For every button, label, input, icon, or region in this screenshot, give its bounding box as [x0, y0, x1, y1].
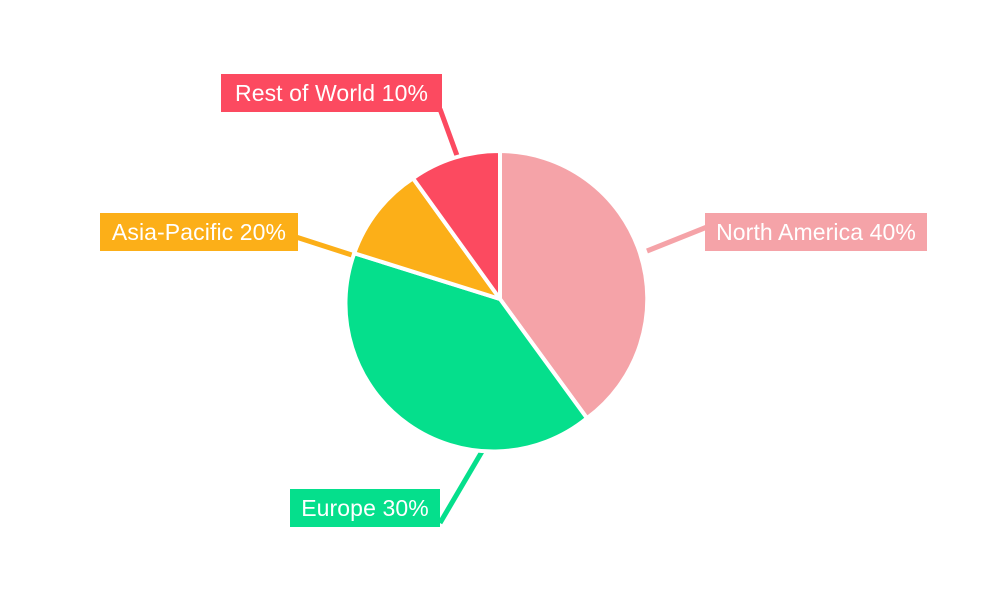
leader-line-europe — [440, 443, 487, 523]
pie-chart: North America 40% Europe 30% Asia-Pacifi… — [0, 0, 1000, 600]
pie-label-europe[interactable]: Europe 30% — [290, 489, 440, 527]
pie-label-north-america[interactable]: North America 40% — [705, 213, 927, 251]
pie-label-rest-of-world[interactable]: Rest of World 10% — [221, 74, 442, 112]
pie-label-asia-pacific[interactable]: Asia-Pacific 20% — [100, 213, 298, 251]
leader-line-asia-pacific — [296, 237, 358, 257]
leader-line-north-america — [647, 227, 707, 251]
pie-chart-canvas — [0, 0, 1000, 600]
